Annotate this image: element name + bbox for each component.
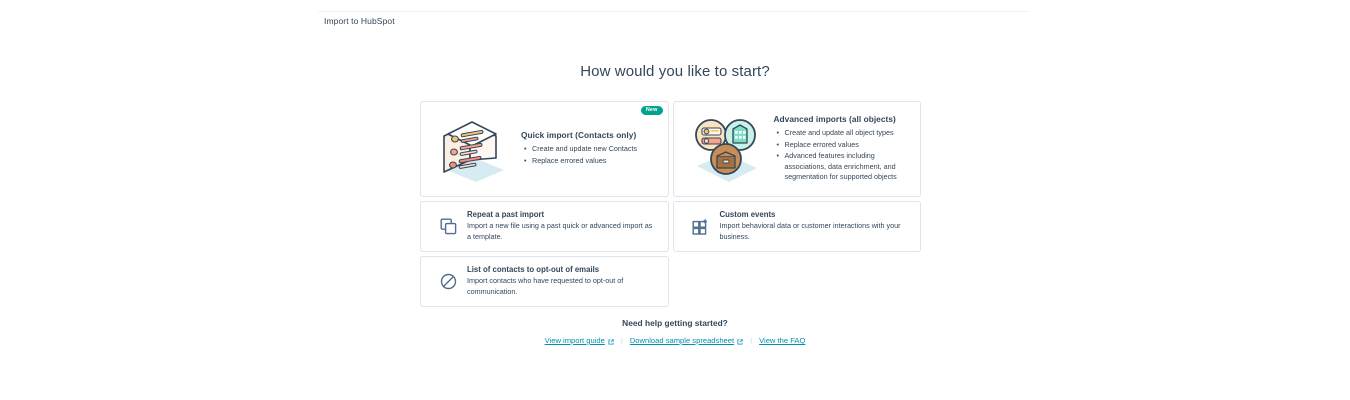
duplicate-icon [429,218,467,235]
quick-import-body: Quick import (Contacts only) Create and … [519,130,660,167]
hero-card-row: New [420,101,921,197]
card-description: Import behavioral data or customer inter… [720,221,908,242]
status-badge: New [641,106,663,115]
link-view-the-faq[interactable]: View the FAQ [759,336,805,345]
footer-title: Need help getting started? [0,318,1350,328]
footer-links: View import guide | Download sample spre… [0,336,1350,345]
link-label: View import guide [545,336,605,345]
help-footer: Need help getting started? View import g… [0,318,1350,345]
link-view-import-guide[interactable]: View import guide [545,336,614,345]
advanced-imports-body: Advanced imports (all objects) Create an… [772,114,913,184]
card-quick-import[interactable]: New [420,101,669,197]
quick-import-bullets: Create and update new Contacts Replace e… [521,144,658,166]
card-description: Import a new file using a past quick or … [467,221,655,242]
objects-circles-illustration [680,110,772,188]
bullet-item: Replace errored values [532,156,658,167]
page-title: How would you like to start? [0,63,1350,80]
link-label: View the FAQ [759,336,805,345]
card-title: List of contacts to opt-out of emails [467,265,655,274]
import-options-grid: New [420,101,921,311]
card-opt-out-list[interactable]: List of contacts to opt-out of emails Im… [420,256,669,307]
link-download-sample-spreadsheet[interactable]: Download sample spreadsheet [630,336,743,345]
card-title: Quick import (Contacts only) [521,130,658,140]
advanced-imports-bullets: Create and update all object types Repla… [774,128,911,183]
tertiary-card-row: List of contacts to opt-out of emails Im… [420,256,921,307]
card-repeat-past-import[interactable]: Repeat a past import Import a new file u… [420,201,669,252]
card-title: Advanced imports (all objects) [774,114,911,124]
custom-events-body: Custom events Import behavioral data or … [720,210,912,242]
bullet-item: Advanced features including associations… [785,151,911,183]
card-custom-events[interactable]: Custom events Import behavioral data or … [673,201,922,252]
opt-out-body: List of contacts to opt-out of emails Im… [467,265,659,297]
grid-plus-icon [682,218,720,235]
bullet-item: Create and update new Contacts [532,144,658,155]
bullet-item: Create and update all object types [785,128,911,139]
secondary-card-row: Repeat a past import Import a new file u… [420,201,921,252]
ban-icon [429,273,467,290]
card-advanced-imports[interactable]: Advanced imports (all objects) Create an… [673,101,922,197]
link-separator: | [743,336,759,345]
card-title: Repeat a past import [467,210,655,219]
link-label: Download sample spreadsheet [630,336,734,345]
top-divider [318,11,1030,12]
import-page: Import to HubSpot How would you like to … [0,0,1350,400]
bullet-item: Replace errored values [785,140,911,151]
card-title: Custom events [720,210,908,219]
link-separator: | [614,336,630,345]
card-description: Import contacts who have requested to op… [467,276,655,297]
repeat-import-body: Repeat a past import Import a new file u… [467,210,659,242]
breadcrumb[interactable]: Import to HubSpot [324,16,395,26]
contact-list-illustration [427,110,519,188]
